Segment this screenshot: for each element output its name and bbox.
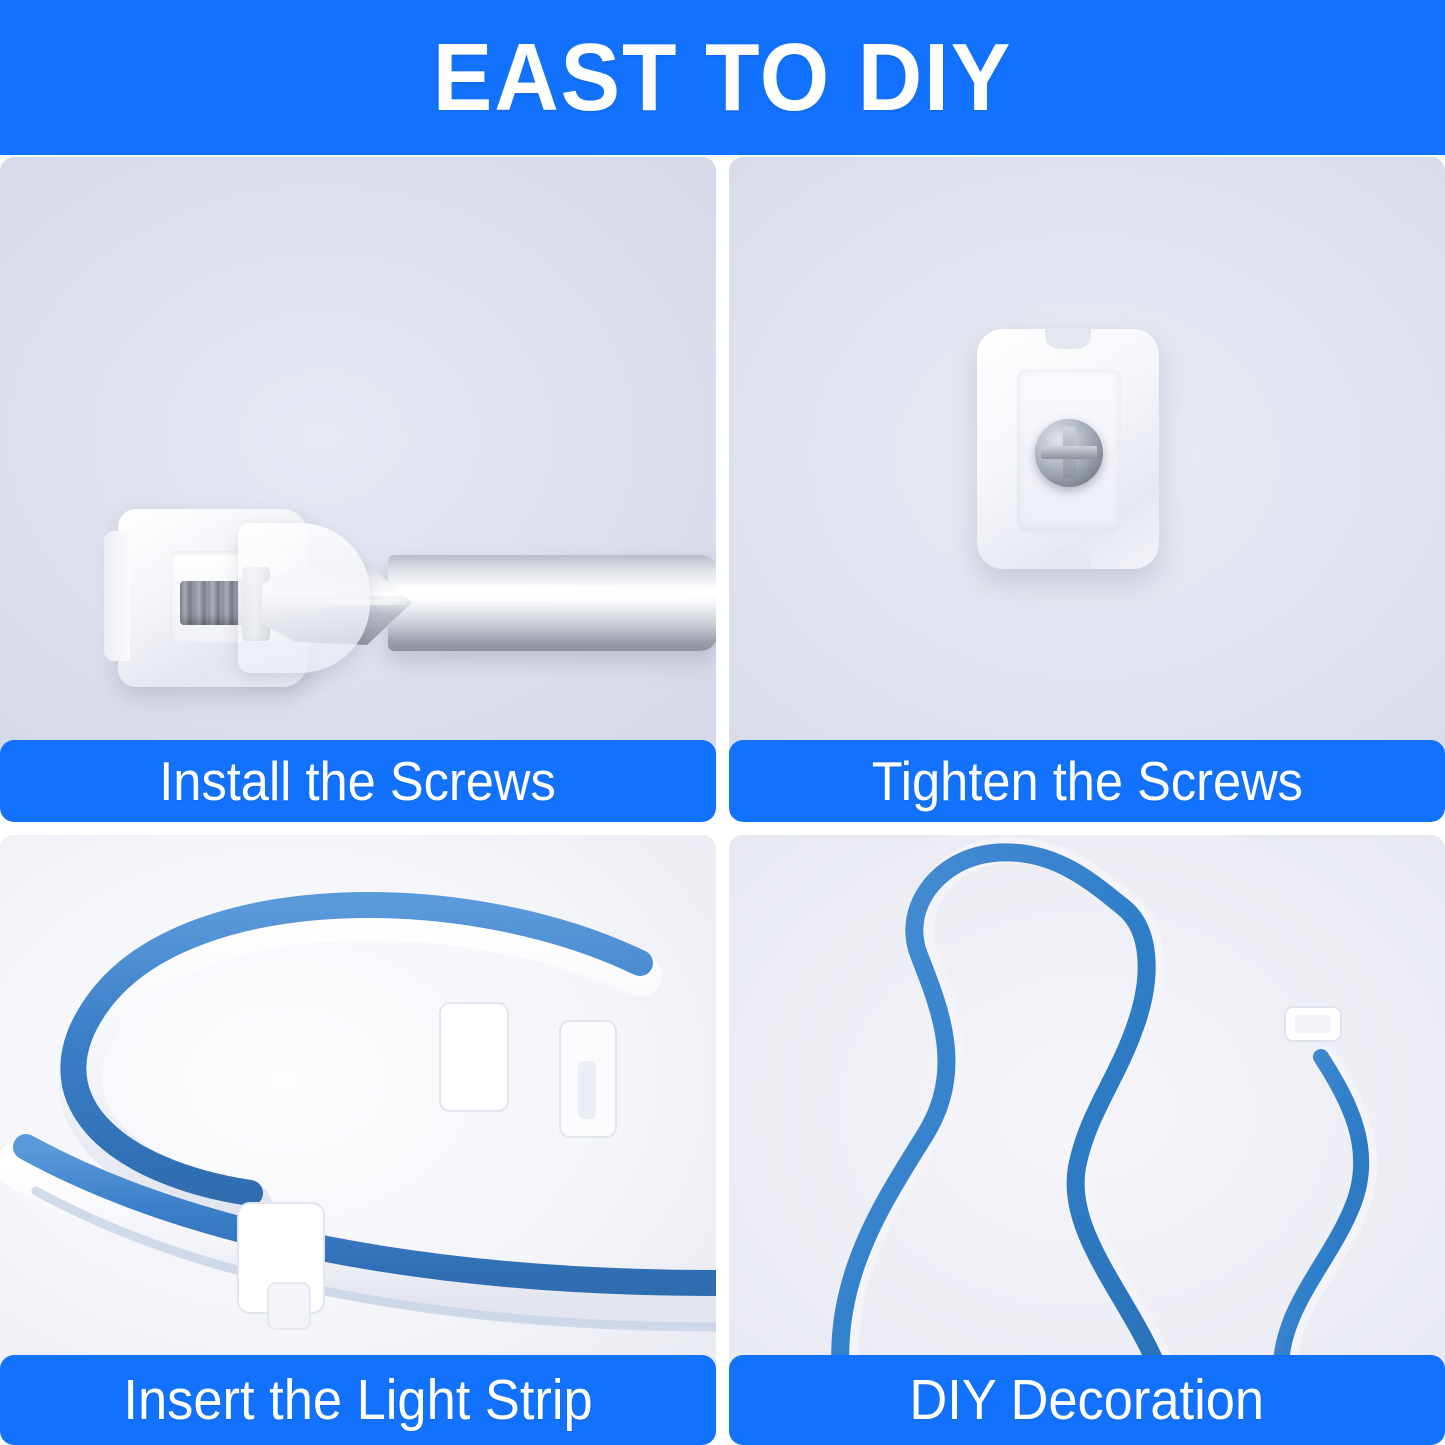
- caption-bar-step-4: DIY Decoration: [729, 1355, 1445, 1445]
- screwdriver-shaft-highlight: [396, 585, 712, 601]
- step-panel-insert-light-strip: Insert the Light Strip: [0, 835, 716, 1445]
- page-title: EAST TO DIY: [433, 30, 1012, 126]
- photo-install-screws: [0, 157, 716, 822]
- caption-label-step-4: DIY Decoration: [910, 1372, 1265, 1429]
- light-strip-illustration: [0, 835, 716, 1445]
- photo-tighten-screws: [729, 157, 1445, 822]
- screw-cross-slot-horizontal: [1041, 446, 1097, 459]
- product-instruction-infographic: EAST TO DIY Install the Screws: [0, 0, 1445, 1445]
- white-mounting-clip-upper: [440, 1003, 616, 1137]
- screwdriver-shaft: [388, 555, 716, 651]
- strip-white-backing: [846, 850, 1176, 1439]
- white-connector: [1285, 1007, 1341, 1041]
- caption-label-step-3: Insert the Light Strip: [123, 1372, 592, 1429]
- caption-bar-step-1: Install the Screws: [0, 740, 716, 822]
- clip-notch-bottom: [1045, 549, 1091, 569]
- photo-diy-decoration: [729, 835, 1445, 1445]
- white-mounting-clip-lower: [238, 1203, 324, 1329]
- steps-grid: Install the Screws Tighten the Screws: [0, 157, 1445, 1445]
- header-banner: EAST TO DIY: [0, 0, 1445, 155]
- step-panel-tighten-screws: Tighten the Screws: [729, 157, 1445, 822]
- photo-insert-light-strip: [0, 835, 716, 1445]
- caption-bar-step-2: Tighten the Screws: [729, 740, 1445, 822]
- caption-label-step-1: Install the Screws: [160, 754, 557, 809]
- caption-label-step-2: Tighten the Screws: [871, 754, 1302, 809]
- diy-shape-illustration: [729, 835, 1445, 1445]
- clip-clear-wing: [238, 523, 370, 673]
- caption-bar-step-3: Insert the Light Strip: [0, 1355, 716, 1445]
- step-panel-install-screws: Install the Screws: [0, 157, 716, 822]
- step-panel-diy-decoration: DIY Decoration: [729, 835, 1445, 1445]
- clip-notch-top: [1045, 329, 1091, 349]
- blue-neon-strip-shape: [840, 852, 1171, 1441]
- photo-backdrop: [0, 157, 716, 822]
